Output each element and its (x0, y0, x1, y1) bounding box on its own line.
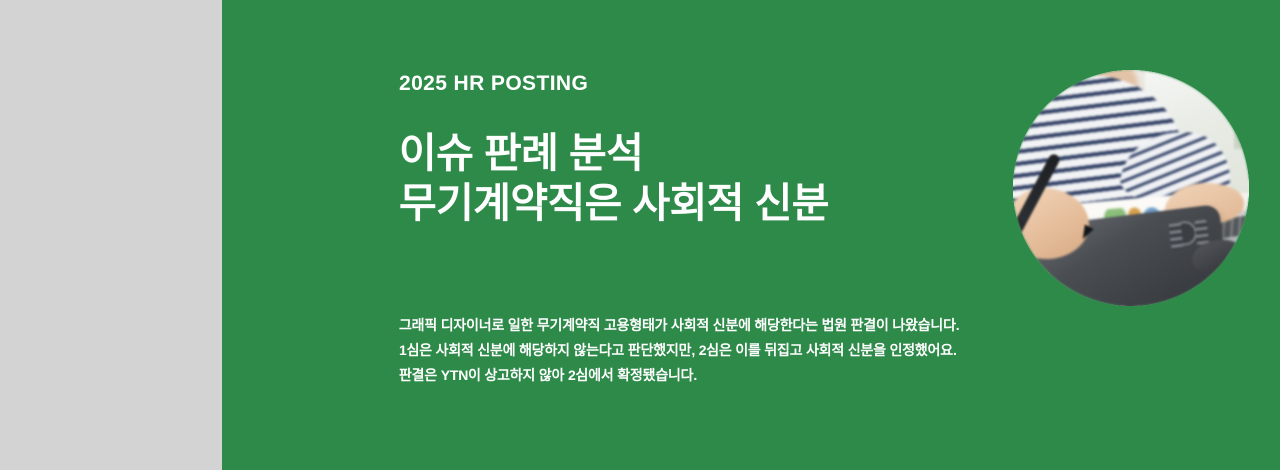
headline-line-2: 무기계약직은 사회적 신분 (399, 178, 1039, 228)
hr-posting-banner: 2025 HR POSTING 이슈 판례 분석 무기계약직은 사회적 신분 그… (0, 0, 1280, 470)
headline-line-1: 이슈 판례 분석 (399, 128, 1039, 178)
headline-block: 이슈 판례 분석 무기계약직은 사회적 신분 (399, 128, 1039, 228)
body-line-3: 판결은 YTN이 상고하지 않아 2심에서 확정됐습니다. (399, 363, 1039, 388)
body-line-2: 1심은 사회적 신분에 해당하지 않는다고 판단했지만, 2심은 이를 뒤집고 … (399, 338, 1039, 363)
photo-window-frame (1234, 70, 1243, 149)
body-line-1: 그래픽 디자이너로 일한 무기계약직 고용형태가 사회적 신분에 해당한다는 법… (399, 313, 1039, 338)
body-copy-block: 그래픽 디자이너로 일한 무기계약직 고용형태가 사회적 신분에 해당한다는 법… (399, 313, 1039, 388)
left-gray-strip (0, 0, 222, 470)
designer-photo-circle (1013, 70, 1249, 306)
banner-content: 2025 HR POSTING 이슈 판례 분석 무기계약직은 사회적 신분 그… (399, 0, 1039, 470)
photo-scene (1013, 70, 1249, 306)
eyebrow-label: 2025 HR POSTING (399, 72, 588, 96)
